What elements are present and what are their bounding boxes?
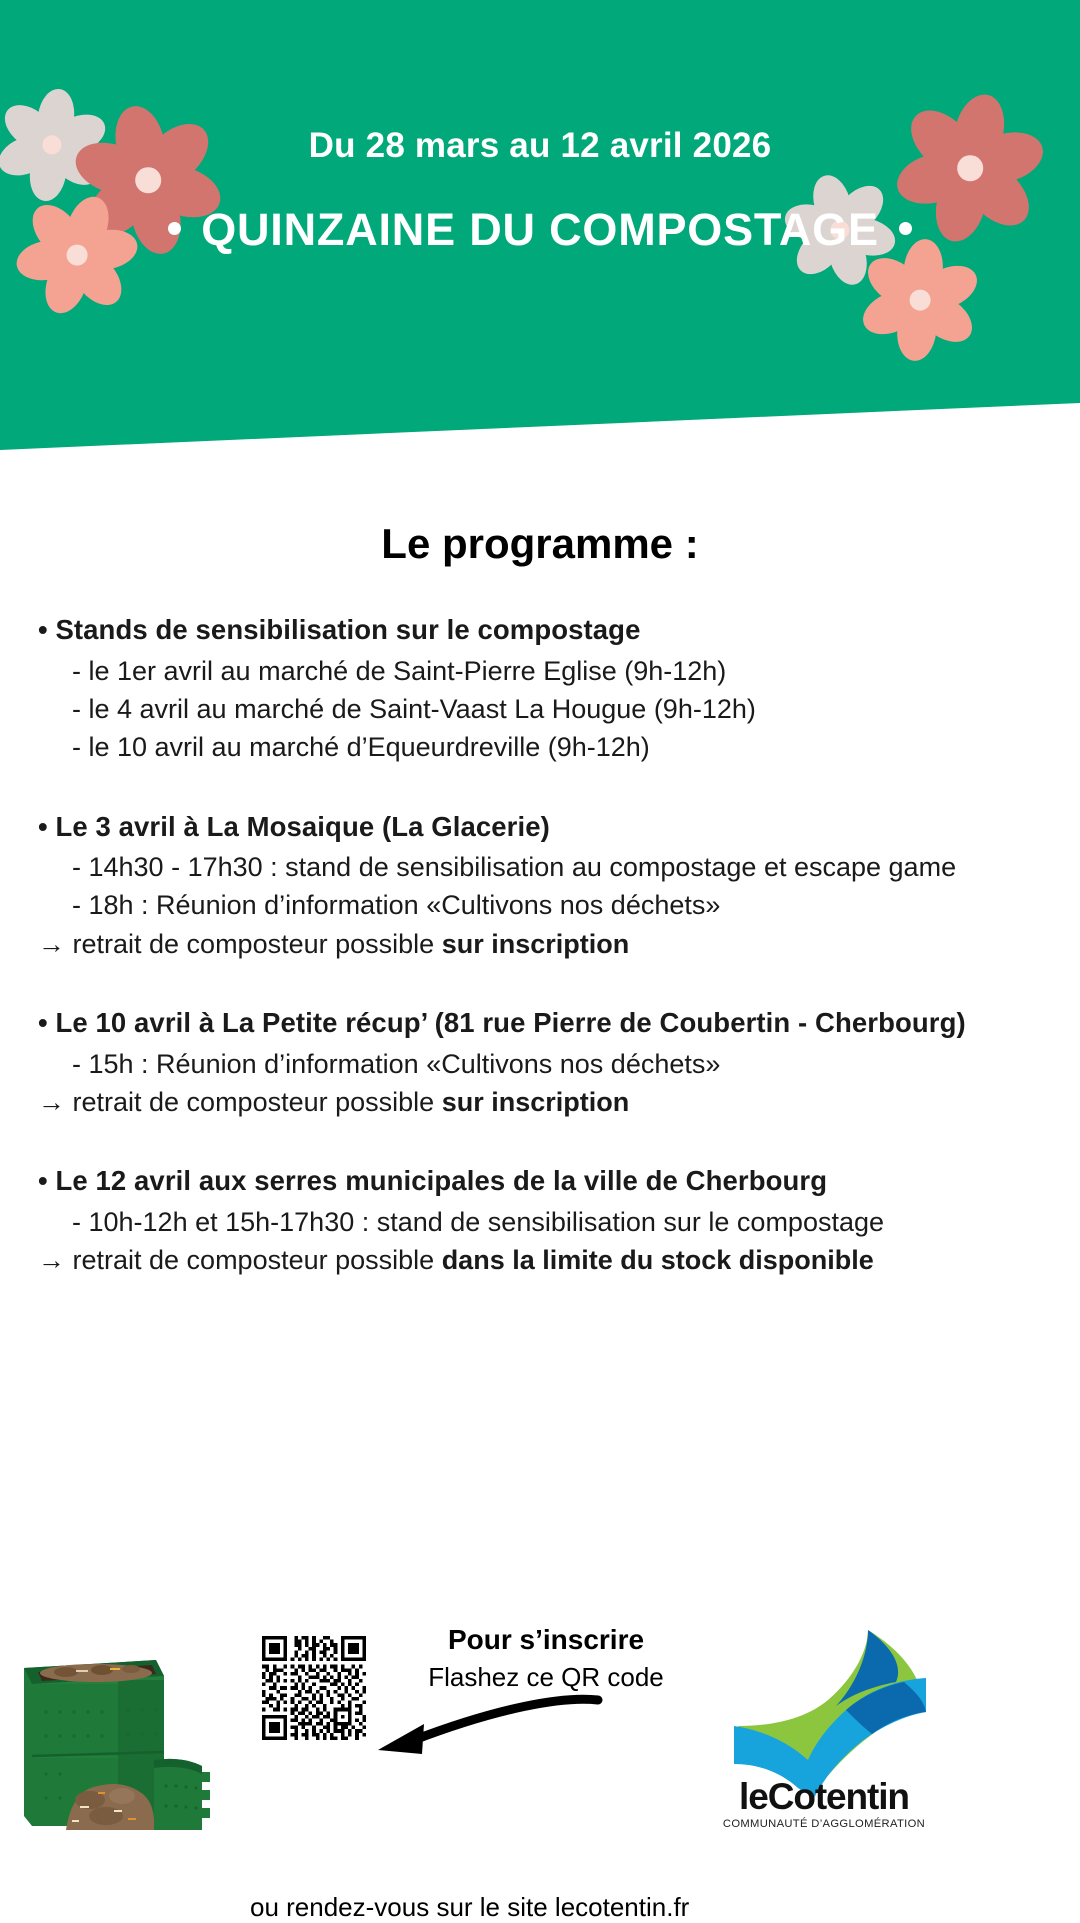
programme-section-note: → retrait de composteur possible sur ins… — [38, 925, 1050, 963]
page-title-text: QUINZAINE DU COMPOSTAGE — [201, 204, 879, 255]
event-dates: Du 28 mars au 12 avril 2026 — [0, 0, 1080, 166]
header-banner: Du 28 mars au 12 avril 2026 QUINZAINE DU… — [0, 0, 1080, 460]
page-title: QUINZAINE DU COMPOSTAGE — [0, 166, 1080, 256]
title-bullet-left-icon — [168, 222, 181, 235]
composter-illustration — [6, 1640, 216, 1840]
programme-section-title: • Stands de sensibilisation sur le compo… — [38, 612, 1050, 649]
programme-section-line: - le 1er avril au marché de Saint-Pierre… — [38, 652, 1050, 690]
programme-section-title: • Le 10 avril à La Petite récup’ (81 rue… — [38, 1005, 1050, 1042]
programme-section-title: • Le 12 avril aux serres municipales de … — [38, 1163, 1050, 1200]
programme-list: • Stands de sensibilisation sur le compo… — [38, 612, 1050, 1280]
lecotentin-wordmark: leCotentin COMMUNAUTÉ D’AGGLOMÉRATION — [718, 1778, 930, 1830]
header-title-block: Du 28 mars au 12 avril 2026 QUINZAINE DU… — [0, 0, 1080, 256]
footer-area: Pour s’inscrire Flashez ce QR code ou re… — [0, 1600, 1080, 1920]
logo-name: leCotentin — [718, 1778, 930, 1815]
programme-section-line: - 14h30 - 17h30 : stand de sensibilisati… — [38, 848, 1050, 886]
programme-section: • Stands de sensibilisation sur le compo… — [38, 612, 1050, 767]
programme-heading: Le programme : — [0, 520, 1080, 568]
inscription-block: Pour s’inscrire Flashez ce QR code — [396, 1624, 696, 1693]
programme-section-line: - le 10 avril au marché d’Equeurdreville… — [38, 728, 1050, 766]
programme-section: • Le 12 avril aux serres municipales de … — [38, 1163, 1050, 1279]
programme-section-note: → retrait de composteur possible dans la… — [38, 1241, 1050, 1279]
note-prefix: → retrait de composteur possible — [38, 929, 442, 959]
programme-section-note: → retrait de composteur possible sur ins… — [38, 1083, 1050, 1121]
programme-section-line: - 15h : Réunion d’information «Cultivons… — [38, 1045, 1050, 1083]
note-emphasis: sur inscription — [442, 929, 630, 959]
note-prefix: → retrait de composteur possible — [38, 1087, 442, 1117]
note-emphasis: sur inscription — [442, 1087, 630, 1117]
programme-section-line: - le 4 avril au marché de Saint-Vaast La… — [38, 690, 1050, 728]
note-prefix: → retrait de composteur possible — [38, 1245, 442, 1275]
programme-section: • Le 10 avril à La Petite récup’ (81 rue… — [38, 1005, 1050, 1121]
programme-section-line: - 18h : Réunion d’information «Cultivons… — [38, 886, 1050, 924]
inscription-title: Pour s’inscrire — [396, 1624, 696, 1656]
programme-section-title: • Le 3 avril à La Mosaique (La Glacerie) — [38, 809, 1050, 846]
curved-arrow-icon — [348, 1694, 608, 1774]
programme-section-line: - 10h-12h et 15h-17h30 : stand de sensib… — [38, 1203, 1050, 1241]
website-line: ou rendez-vous sur le site lecotentin.fr — [250, 1892, 689, 1923]
logo-tagline: COMMUNAUTÉ D’AGGLOMÉRATION — [718, 1818, 930, 1830]
programme-section: • Le 3 avril à La Mosaique (La Glacerie)… — [38, 809, 1050, 964]
note-emphasis: dans la limite du stock disponible — [442, 1245, 874, 1275]
inscription-subtitle: Flashez ce QR code — [396, 1662, 696, 1693]
title-bullet-right-icon — [899, 222, 912, 235]
